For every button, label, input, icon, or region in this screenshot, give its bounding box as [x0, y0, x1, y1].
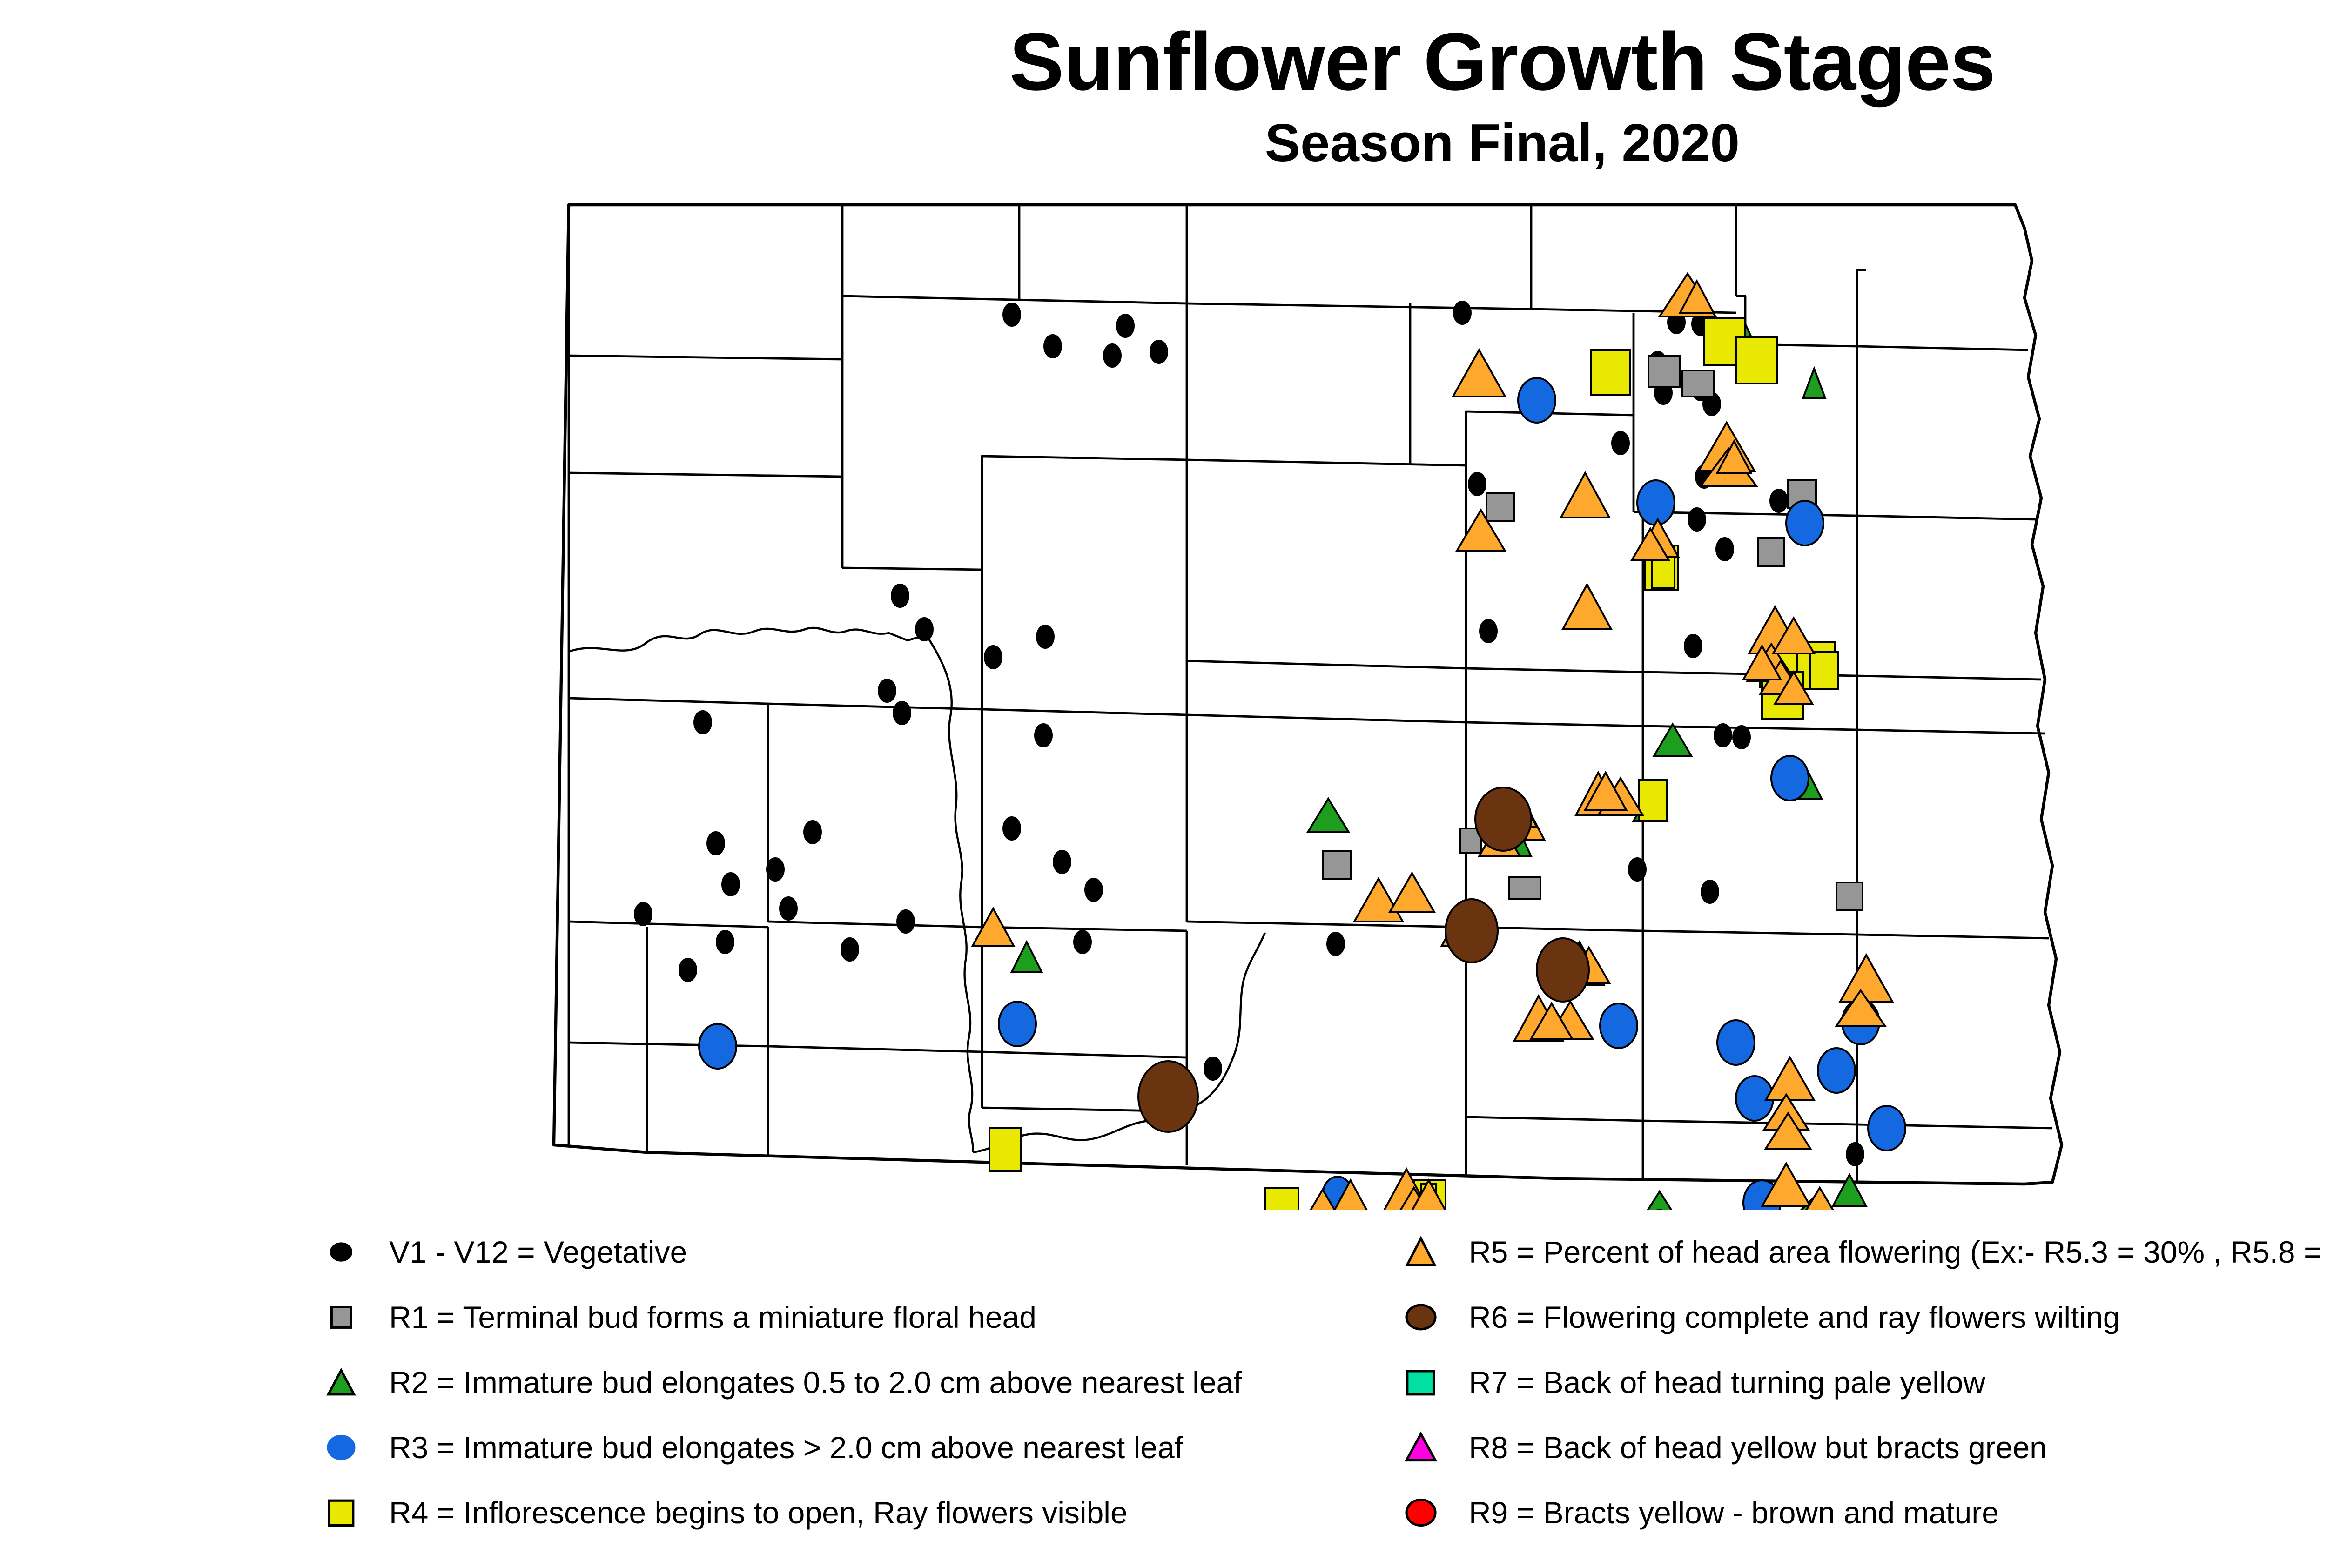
filled-circle-black-icon [321, 1232, 361, 1272]
filled-square-yellow-icon [321, 1493, 361, 1533]
legend-label-r9: R9 = Bracts yellow - brown and mature [1469, 1497, 1999, 1528]
legend-item-r5[interactable]: R5 = Percent of head area flowering (Ex:… [1401, 1219, 2327, 1285]
legend-label-r4: R4 = Inflorescence begins to open, Ray f… [389, 1497, 1128, 1528]
legend: V1 - V12 = Vegetative R1 = Terminal bud … [0, 1219, 2327, 1555]
legend-item-r3[interactable]: R3 = Immature bud elongates > 2.0 cm abo… [321, 1415, 1406, 1480]
legend-item-r6[interactable]: R6 = Flowering complete and ray flowers … [1401, 1285, 2327, 1350]
legend-item-r7[interactable]: R7 = Back of head turning pale yellow [1401, 1350, 2327, 1415]
legend-label-r2: R2 = Immature bud elongates 0.5 to 2.0 c… [389, 1367, 1242, 1398]
figure-root: Sunflower Growth Stages Season Final, 20… [0, 0, 2327, 1568]
filled-triangle-green-icon [321, 1362, 361, 1402]
legend-column-left: V1 - V12 = Vegetative R1 = Terminal bud … [321, 1219, 1406, 1545]
legend-label-r7: R7 = Back of head turning pale yellow [1469, 1367, 1985, 1398]
map-svg [535, 177, 2220, 1210]
filled-triangle-orange-icon [1401, 1232, 1441, 1272]
county-boundaries [554, 205, 2062, 1184]
legend-column-right: R5 = Percent of head area flowering (Ex:… [1401, 1219, 2327, 1545]
filled-triangle-magenta-icon [1401, 1427, 1441, 1467]
filled-square-springgreen-icon [1401, 1362, 1441, 1402]
legend-label-r3: R3 = Immature bud elongates > 2.0 cm abo… [389, 1432, 1183, 1463]
legend-item-vegetative[interactable]: V1 - V12 = Vegetative [321, 1219, 1406, 1285]
legend-item-r4[interactable]: R4 = Inflorescence begins to open, Ray f… [321, 1480, 1406, 1545]
legend-label-r8: R8 = Back of head yellow but bracts gree… [1469, 1432, 2047, 1463]
filled-circle-brown-icon [1401, 1297, 1441, 1337]
legend-label-r6: R6 = Flowering complete and ray flowers … [1469, 1302, 2120, 1332]
legend-item-r9[interactable]: R9 = Bracts yellow - brown and mature [1401, 1480, 2327, 1545]
title-block: Sunflower Growth Stages Season Final, 20… [0, 20, 2327, 170]
filled-circle-blue-icon [321, 1427, 361, 1467]
page-title: Sunflower Growth Stages [0, 20, 2327, 104]
legend-item-r8[interactable]: R8 = Back of head yellow but bracts gree… [1401, 1415, 2327, 1480]
legend-label-r5: R5 = Percent of head area flowering (Ex:… [1469, 1237, 2327, 1267]
north-dakota-county-map [535, 177, 2220, 1210]
filled-square-gray-icon [321, 1297, 361, 1337]
legend-label-r1: R1 = Terminal bud forms a miniature flor… [389, 1302, 1036, 1332]
legend-item-r1[interactable]: R1 = Terminal bud forms a miniature flor… [321, 1285, 1406, 1350]
page-subtitle: Season Final, 2020 [0, 116, 2327, 170]
legend-label-vegetative: V1 - V12 = Vegetative [389, 1237, 687, 1267]
filled-circle-red-icon [1401, 1493, 1441, 1533]
legend-item-r2[interactable]: R2 = Immature bud elongates 0.5 to 2.0 c… [321, 1350, 1406, 1415]
